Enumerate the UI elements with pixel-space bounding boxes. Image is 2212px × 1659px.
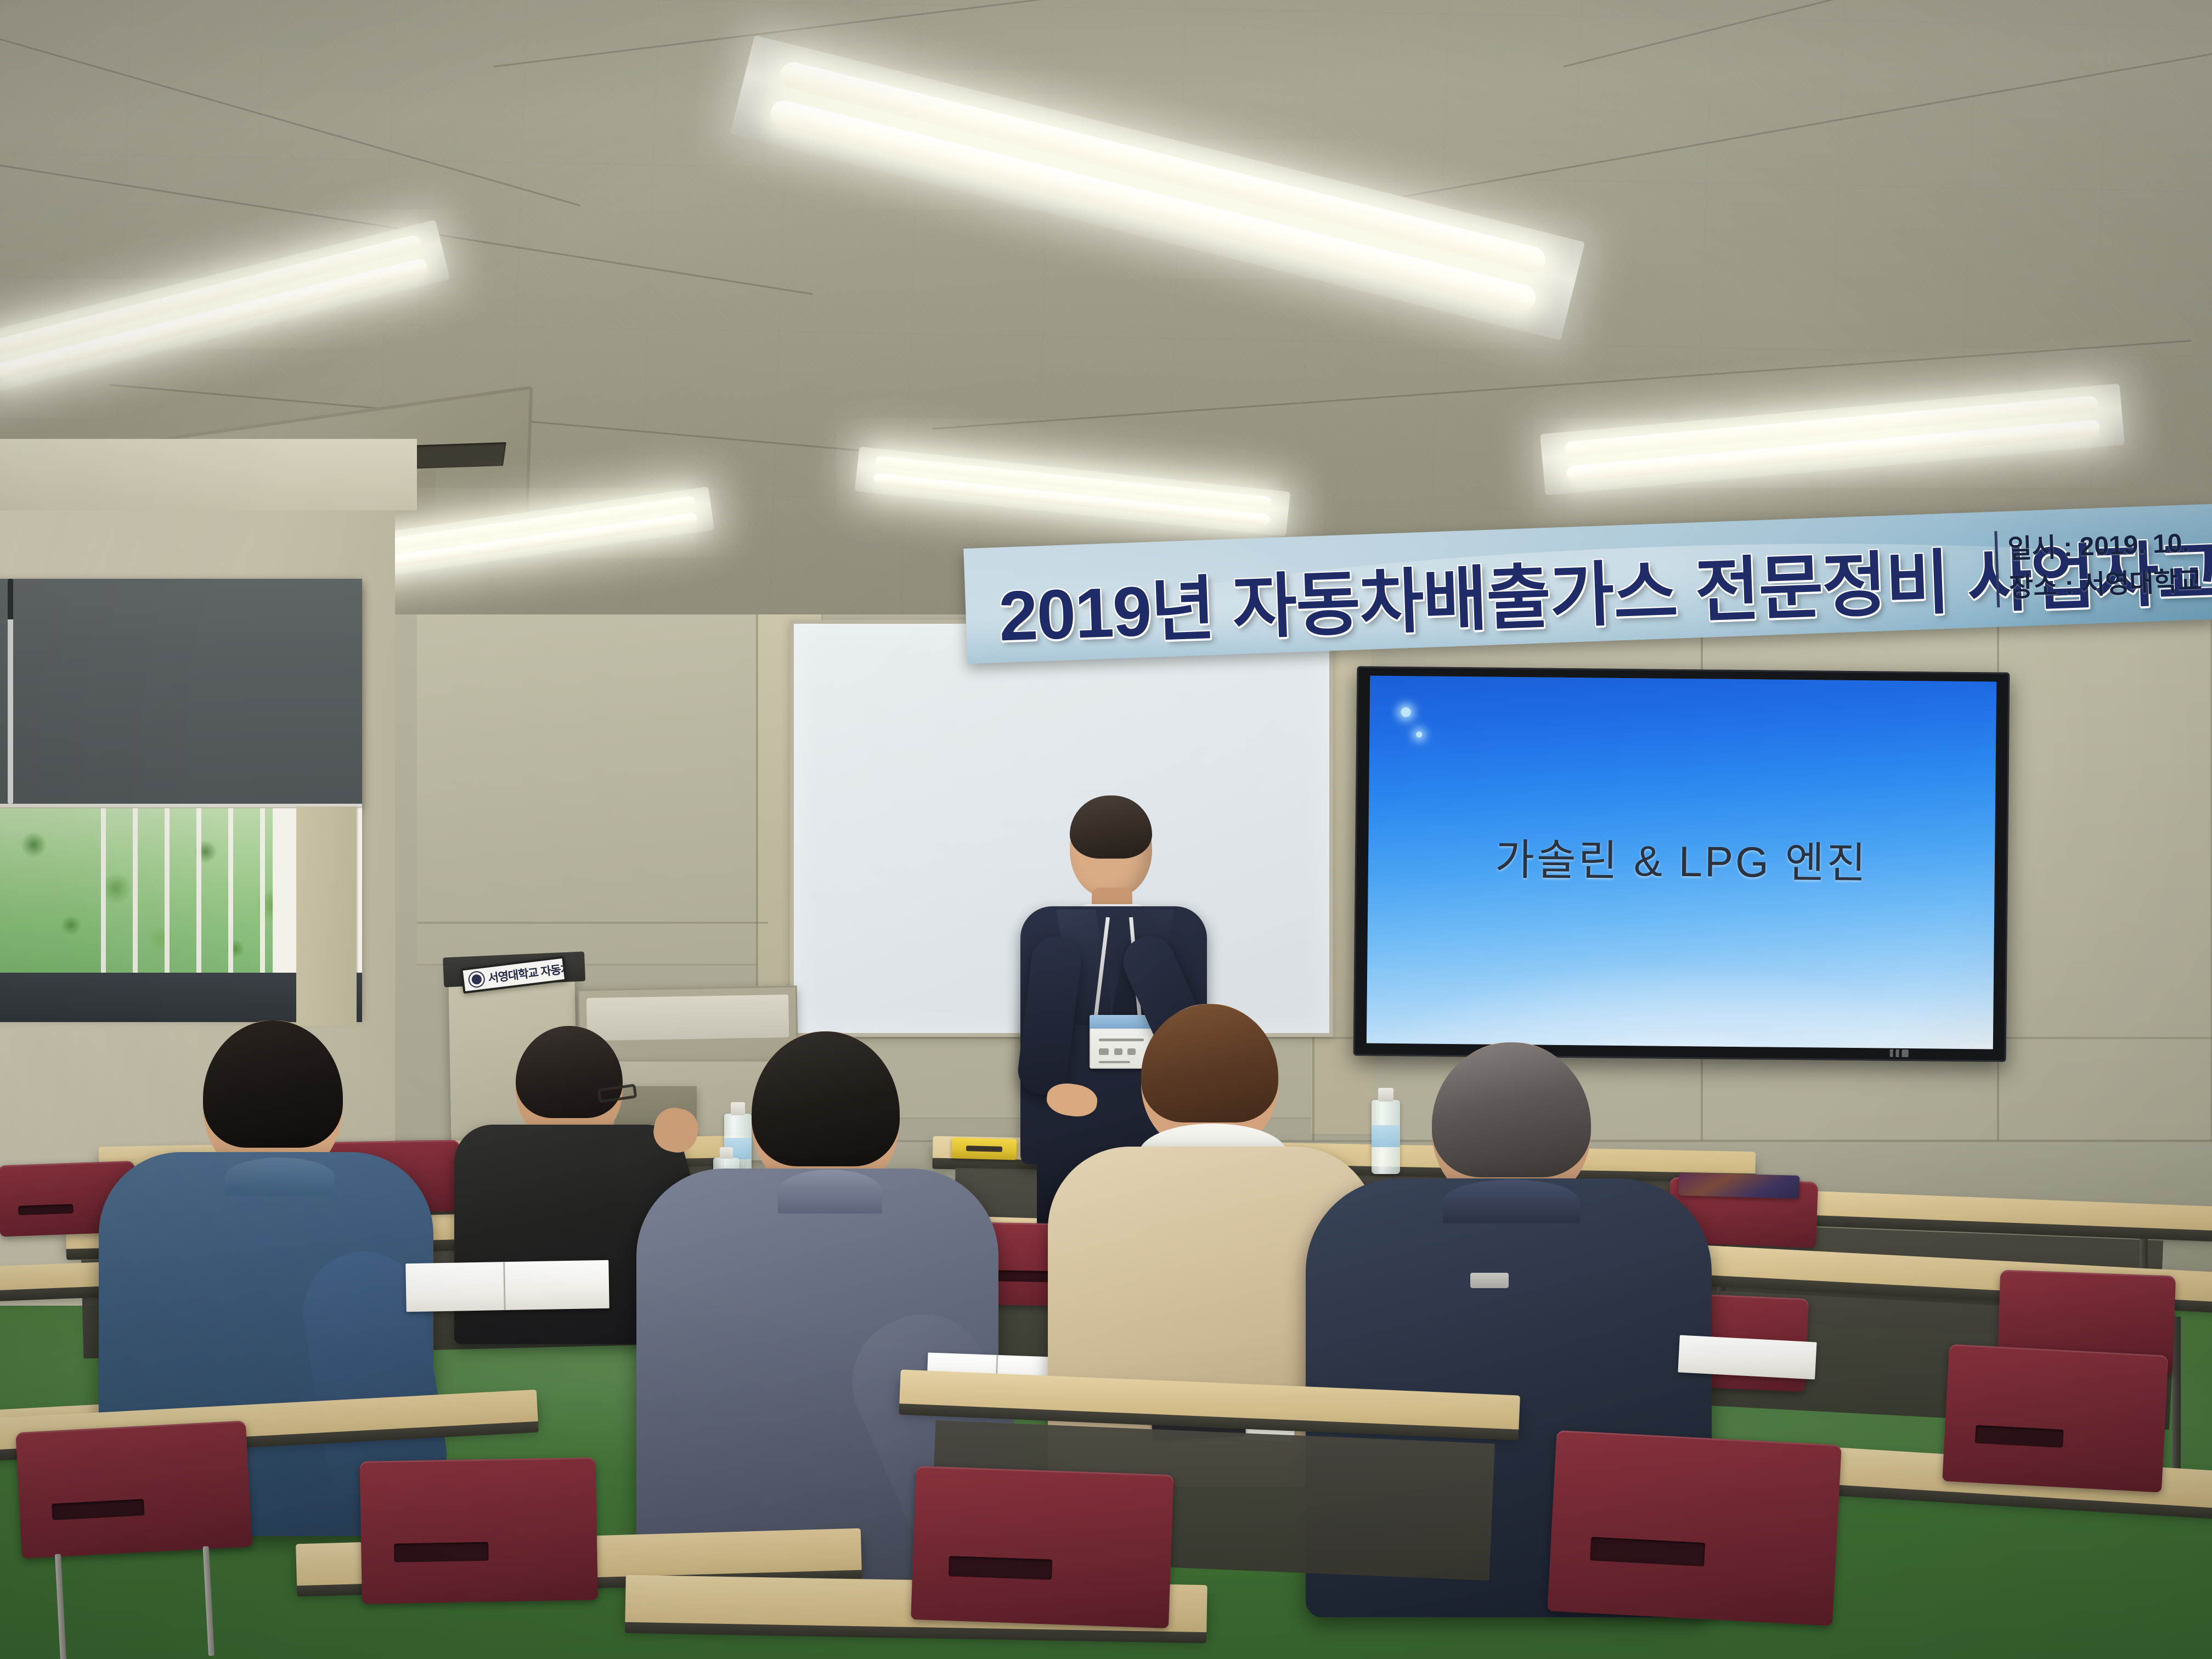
classroom-photo-scene: 가솔린 & LPG 엔진 서영대학교 자동차과 [0, 0, 2212, 1659]
display-brand-logo [1889, 1049, 1908, 1057]
chair-backrest [911, 1466, 1173, 1628]
attendee-hair [1432, 1042, 1591, 1177]
banner-venue-line: 장소 : 서영대학교 [1996, 562, 2203, 607]
wall-panel [417, 614, 801, 966]
banner-info-block: 일시 : 2019. 10. 장소 : 서영대학교 [1995, 524, 2203, 608]
chair-backrest [15, 1420, 252, 1559]
banner-date-line: 일시 : 2019. 10. [1995, 524, 2202, 569]
chair-backrest [1942, 1344, 2169, 1493]
chair-right-edge[interactable] [1942, 1344, 2169, 1493]
window-right-jamb [296, 806, 357, 1026]
chair-backrest [1547, 1430, 1842, 1626]
attendee-hair [1141, 1004, 1278, 1122]
university-emblem-icon [469, 972, 484, 988]
attendee-blazer-collar [778, 1170, 882, 1214]
slide-glow-dot [1401, 707, 1410, 717]
attendee-jacket-collar [1443, 1180, 1580, 1223]
booklet-right [1678, 1335, 1816, 1380]
presenter-hair [1070, 795, 1152, 859]
chair-front-right[interactable] [1547, 1430, 1842, 1626]
blind-pull-cord[interactable] [8, 579, 13, 804]
chair-backrest [359, 1457, 597, 1604]
left-wall-upper [0, 439, 417, 510]
wall-seam [417, 922, 768, 924]
chair-handle-slot [949, 1556, 1052, 1580]
chair-handle-slot [394, 1542, 489, 1562]
booklet-open-left [405, 1260, 609, 1312]
desk-leg [2172, 1317, 2181, 1470]
chair-front-center[interactable] [911, 1466, 1173, 1628]
slide-title: 가솔린 & LPG 엔진 [1368, 825, 1995, 892]
attendee-hair [516, 1026, 623, 1118]
roller-blind[interactable] [0, 579, 362, 804]
display-screen-surface: 가솔린 & LPG 엔진 [1367, 676, 1997, 1049]
chair-front-left[interactable] [15, 1420, 252, 1559]
display-screen[interactable]: 가솔린 & LPG 엔진 [1353, 666, 2010, 1062]
attendee-hair [203, 1020, 343, 1148]
attendee-collar [225, 1158, 335, 1196]
attendee-jacket-tag [1470, 1273, 1509, 1288]
attendee-hair [752, 1031, 900, 1166]
chair-front-center-left[interactable] [359, 1457, 597, 1604]
presenter-head [1070, 795, 1152, 897]
